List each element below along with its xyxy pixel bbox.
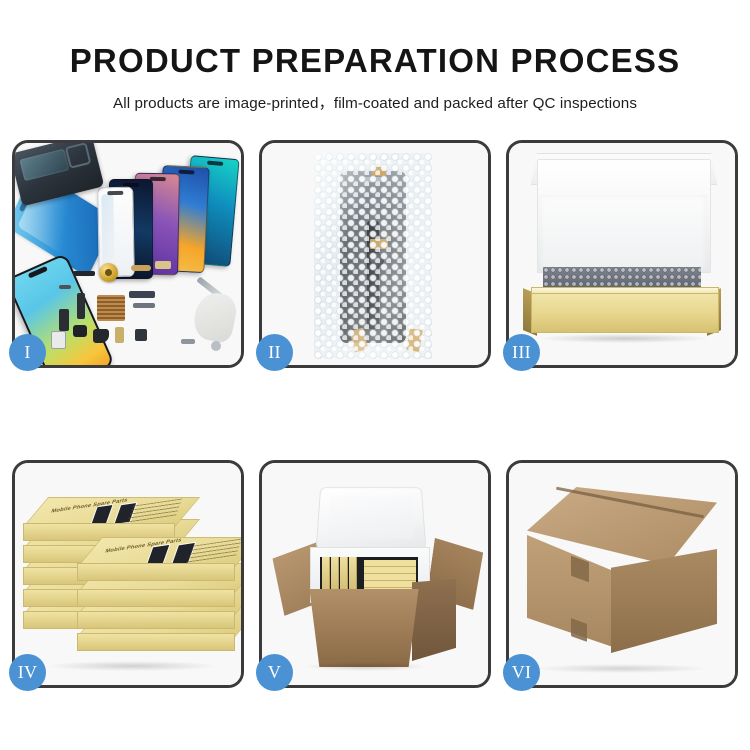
box-front-face [77,611,235,629]
phone-notch [107,191,123,195]
photo-phones-and-parts [15,143,241,365]
spare-part [59,309,69,331]
spare-part [129,291,155,298]
photo-carton-with-foam-cooler [262,463,488,685]
spare-part [93,329,109,343]
spare-part [211,341,221,351]
process-step-panel-5: V [259,460,491,688]
step-badge-1: I [9,334,46,371]
drop-shadow [535,664,707,673]
photo-stacked-boxes: Mobile Phone Spare Parts [15,463,241,685]
box-stack: Mobile Phone Spare Parts [23,481,237,677]
foam-cooler-lid [316,487,427,549]
foam-sheet [539,195,707,271]
spare-part [131,265,151,271]
phone-chassis-disassembled [15,143,104,206]
box-front-face [77,589,235,607]
drop-shadow [306,662,426,671]
photo-bubble-wrapped-product [262,143,488,365]
header: PRODUCT PREPARATION PROCESS All products… [0,0,750,113]
step-badge-6: VI [503,654,540,691]
product-preparation-infographic: PRODUCT PREPARATION PROCESS All products… [0,0,750,750]
page-title: PRODUCT PREPARATION PROCESS [0,0,750,80]
phone-notch [178,170,194,175]
vibration-motor-part [99,263,118,282]
process-step-panel-3: III [506,140,738,368]
process-step-panel-6: VI [506,460,738,688]
spare-part [59,285,71,289]
carton-left-face [527,535,613,647]
spare-part [73,271,95,276]
phone-notch [28,266,48,279]
gloved-hand [190,289,239,344]
step-badge-4: IV [9,654,46,691]
carton-side-right [412,579,456,661]
carton-front [302,589,426,667]
process-step-panel-2: II [259,140,491,368]
photo-open-flat-box [509,143,735,365]
packed-box-row [364,560,416,592]
spare-part [115,327,124,343]
spare-part [51,331,66,349]
spare-part [135,329,147,341]
box-front-face [77,633,235,651]
process-step-grid: I II [12,140,738,688]
step-badge-2: II [256,334,293,371]
spare-part [133,303,155,308]
page-subtitle: All products are image-printed，film-coat… [0,80,750,113]
carton-right-face [611,549,717,653]
process-step-panel-1: I [12,140,244,368]
step-badge-3: III [503,334,540,371]
box-front-panel [531,293,719,333]
bag-reflection [314,153,432,359]
photo-sealed-carton [509,463,735,685]
spare-part [73,325,87,337]
box-front-face [77,563,235,581]
phone-notch [207,160,223,165]
spare-part [181,339,195,344]
step-badge-5: V [256,654,293,691]
process-step-panel-4: Mobile Phone Spare Parts [12,460,244,688]
drop-shadow [47,661,217,671]
glass-reflection [101,194,114,268]
copper-grid-part [97,295,125,321]
spare-part [155,261,171,269]
box-lid-label: Mobile Phone Spare Parts [104,537,182,554]
drop-shadow [539,334,709,343]
bubble-wrap-bag [314,153,432,359]
spare-part [77,293,85,319]
